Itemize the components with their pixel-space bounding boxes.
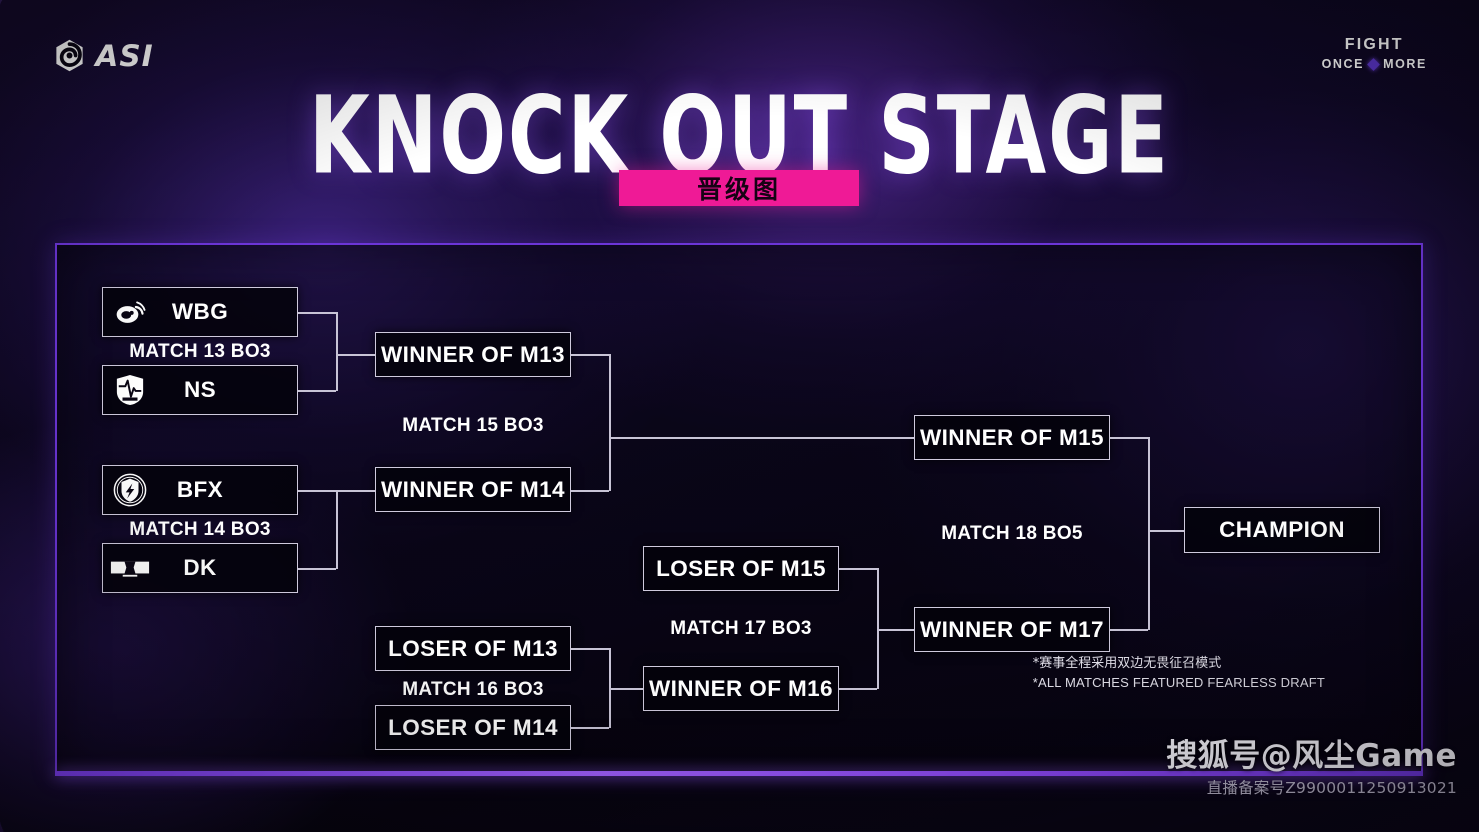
connector-line (609, 354, 611, 491)
asi-wordmark: ASI (95, 39, 153, 73)
connector-line (298, 312, 336, 314)
slot-label: WINNER OF M17 (915, 617, 1109, 643)
team-name: DK (103, 555, 297, 581)
fight-once-more-tagline: FIGHT ONCE MORE (1322, 36, 1427, 72)
team-box-bfx[interactable]: BFX (102, 465, 298, 515)
connector-line (571, 490, 609, 492)
slot-winner-of-m14[interactable]: WINNER OF M14 (375, 467, 571, 512)
connector-line (839, 688, 877, 690)
slot-label: WINNER OF M13 (376, 342, 570, 368)
team-name: NS (103, 377, 297, 403)
team-box-ns[interactable]: NS (102, 365, 298, 415)
connector-line (609, 437, 914, 439)
slot-label: LOSER OF M13 (376, 636, 570, 662)
connector-line (1110, 629, 1148, 631)
connector-line (1110, 437, 1148, 439)
slot-label: CHAMPION (1185, 517, 1379, 543)
connector-line (1148, 437, 1150, 630)
team-name: BFX (103, 477, 297, 503)
connector-line (336, 490, 338, 569)
team-box-dk[interactable]: DK (102, 543, 298, 593)
connector-line (1148, 530, 1184, 532)
match-label-m17: MATCH 17 BO3 (643, 618, 839, 640)
bracket-panel: WBG MATCH 13 BO3 NS BFX MATCH 14 BO3 (55, 243, 1423, 776)
tagline-more: MORE (1383, 56, 1427, 72)
connector-line (336, 312, 338, 391)
slot-label: WINNER OF M14 (376, 477, 570, 503)
connector-line (298, 490, 336, 492)
slot-loser-of-m15[interactable]: LOSER OF M15 (643, 546, 839, 591)
slot-label: LOSER OF M15 (644, 556, 838, 582)
diamond-icon (1367, 58, 1380, 71)
match-label-m18: MATCH 18 BO5 (914, 523, 1110, 545)
asi-brand-logo: ASI (52, 38, 153, 73)
tagline-once: ONCE (1322, 56, 1365, 72)
slot-label: LOSER OF M14 (376, 715, 570, 741)
match-label-m13: MATCH 13 BO3 (102, 341, 298, 363)
watermark-license: 直播备案号Z9900011250913021 (1166, 776, 1457, 798)
watermark-handle: 搜狐号@风尘Game (1166, 730, 1457, 775)
connector-line (571, 354, 609, 356)
slot-loser-of-m14[interactable]: LOSER OF M14 (375, 705, 571, 750)
connector-line (839, 568, 877, 570)
connector-line (298, 390, 336, 392)
slot-loser-of-m13[interactable]: LOSER OF M13 (375, 626, 571, 671)
connector-line (336, 354, 375, 356)
slot-winner-of-m16[interactable]: WINNER OF M16 (643, 666, 839, 711)
connector-line (298, 568, 336, 570)
slot-label: WINNER OF M16 (644, 676, 838, 702)
footnote-en: *ALL MATCHES FEATURED FEARLESS DRAFT (1033, 673, 1325, 692)
footnotes: *赛事全程采用双边无畏征召模式 *ALL MATCHES FEATURED FE… (1033, 654, 1325, 692)
match-label-m14: MATCH 14 BO3 (102, 519, 298, 541)
slot-winner-of-m13[interactable]: WINNER OF M13 (375, 332, 571, 377)
team-name: WBG (103, 299, 297, 325)
slot-winner-of-m17[interactable]: WINNER OF M17 (914, 607, 1110, 652)
footnote-cn: *赛事全程采用双边无畏征召模式 (1033, 654, 1325, 673)
connector-line (336, 490, 375, 492)
slot-winner-of-m15[interactable]: WINNER OF M15 (914, 415, 1110, 460)
watermark: 搜狐号@风尘Game 直播备案号Z9900011250913021 (1166, 730, 1457, 798)
connector-line (877, 629, 914, 631)
match-label-m15: MATCH 15 BO3 (375, 415, 571, 437)
subtitle-banner: 晋级图 (619, 170, 859, 206)
connector-line (571, 727, 609, 729)
team-box-wbg[interactable]: WBG (102, 287, 298, 337)
asi-hex-logo-icon (52, 38, 87, 73)
connector-line (609, 688, 643, 690)
slot-champion[interactable]: CHAMPION (1184, 507, 1380, 553)
slot-label: WINNER OF M15 (915, 425, 1109, 451)
connector-line (571, 648, 609, 650)
tagline-fight: FIGHT (1322, 36, 1427, 54)
match-label-m16: MATCH 16 BO3 (375, 679, 571, 701)
subtitle-cn: 晋级图 (697, 170, 781, 206)
